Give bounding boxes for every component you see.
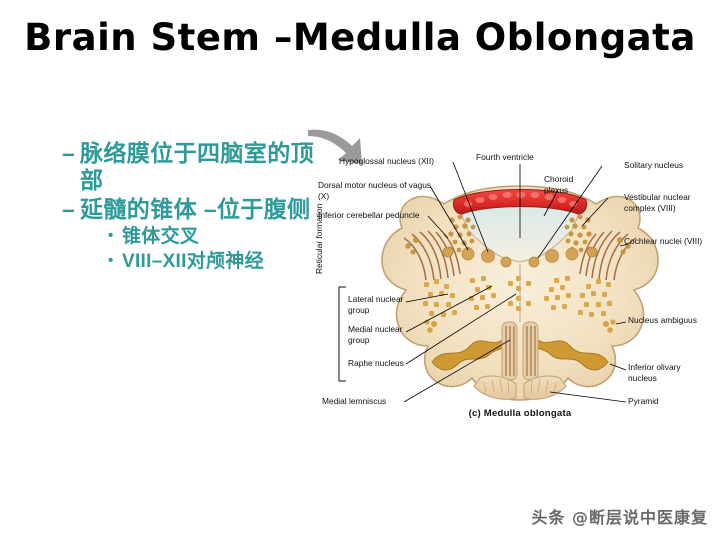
- label-hypoglossal-nucleus: Hypoglossal nucleus (XII): [4, 156, 434, 167]
- label-lateral-nuclear-group: Lateral nuclear group: [348, 294, 422, 316]
- dorsal-motor-nucleus-right: [566, 248, 578, 260]
- label-inferior-olivary-nucleus: Inferior olivary nucleus: [628, 362, 690, 384]
- label-nucleus-ambiguus: Nucleus ambiguus: [628, 315, 706, 326]
- figure-caption: (c) Medulla oblongata: [320, 408, 720, 419]
- list-item: • VIII–XII对颅神经: [108, 250, 324, 273]
- list-item-label: 锥体交叉: [122, 225, 199, 248]
- label-inferior-cerebellar-peduncle: Inferior cerebellar peduncle: [318, 210, 426, 221]
- list-item: – 脉络膜位于四脑室的顶部: [62, 140, 324, 194]
- label-raphe-nucleus: Raphe nucleus: [348, 358, 404, 369]
- label-dorsal-motor-nucleus: Dorsal motor nucleus of vagus (X): [318, 180, 436, 202]
- watermark: 头条 @断层说中医康复: [531, 504, 708, 528]
- accessory-nucleus-right: [587, 247, 597, 257]
- reticular-formation-bracket: [336, 286, 348, 382]
- bullet-dot-icon: •: [108, 250, 122, 272]
- list-item-label: 延髓的锥体 –位于腹侧: [80, 196, 324, 223]
- hypoglossal-nucleus-right: [546, 250, 559, 263]
- slide-canvas: Brain Stem –Medulla Oblongata – 脉络膜位于四脑室…: [0, 0, 720, 540]
- dash-marker-icon: –: [62, 196, 80, 223]
- list-item: • 锥体交叉: [108, 225, 324, 248]
- label-pyramid: Pyramid: [628, 396, 659, 407]
- bullet-dot-icon: •: [108, 225, 122, 247]
- list-item-label: 脉络膜位于四脑室的顶部: [80, 140, 324, 194]
- pyramid-right: [524, 376, 566, 399]
- list-item-label: VIII–XII对颅神经: [122, 250, 264, 273]
- page-title: Brain Stem –Medulla Oblongata: [0, 14, 720, 61]
- label-medial-lemniscus: Medial lemniscus: [322, 396, 386, 407]
- pyramid-left: [474, 376, 516, 399]
- label-choroid-plexus: Choroid plexus: [544, 174, 588, 196]
- medulla-cross-section-figure: Reticular formation Hypoglossal nucleus …: [320, 134, 720, 434]
- medulla-illustration: [320, 134, 720, 434]
- accessory-nucleus-left: [443, 247, 453, 257]
- label-cochlear-nuclei: Cochlear nuclei (VIII): [624, 236, 704, 247]
- solitary-nucleus-left: [501, 257, 511, 267]
- list-item: – 延髓的锥体 –位于腹侧: [62, 196, 324, 223]
- label-fourth-ventricle: Fourth ventricle: [476, 152, 534, 163]
- label-solitary-nucleus: Solitary nucleus: [624, 160, 708, 171]
- label-medial-nuclear-group: Medial nuclear group: [348, 324, 422, 346]
- label-vestibular-nuclear-complex: Vestibular nuclear complex (VIII): [624, 192, 716, 214]
- solitary-nucleus-right: [529, 257, 539, 267]
